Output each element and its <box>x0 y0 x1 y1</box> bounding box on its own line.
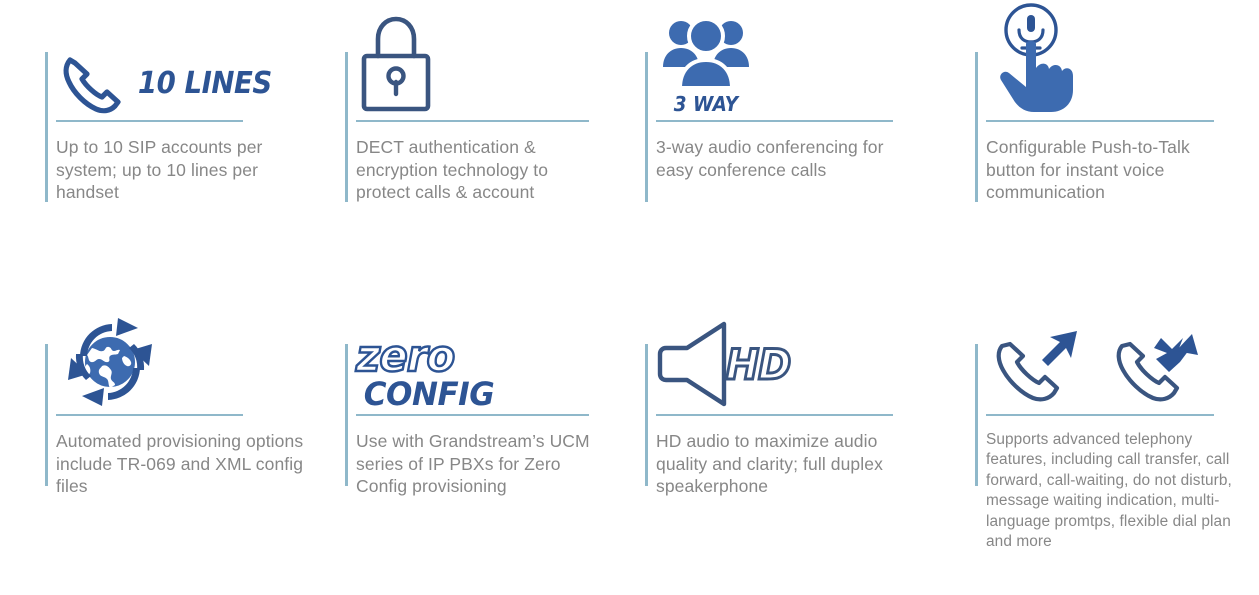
feature-description: Use with Grandstream’s UCM series of IP … <box>356 430 606 498</box>
feature-description: Automated provisioning options include T… <box>56 430 306 498</box>
accent-rail <box>45 344 48 486</box>
feature-card-push-to-talk: Configurable Push-to-Talk button for ins… <box>975 0 1259 298</box>
accent-rail <box>345 52 348 202</box>
hand-pressing-microphone-button-icon <box>986 2 1082 116</box>
feature-description: 3-way audio conferencing for easy confer… <box>656 136 906 181</box>
icon-area <box>986 8 1259 120</box>
card-divider <box>56 120 243 122</box>
feature-card-three-way-conference: 3 WAY 3-way audio conferencing for easy … <box>645 0 975 298</box>
card-divider <box>986 120 1214 122</box>
icon-area: 3 WAY <box>656 8 975 120</box>
icon-area <box>56 306 345 414</box>
feature-badge-label: 10 LINES <box>138 66 272 101</box>
phone-handset-10-lines-icon: 10 LINES <box>56 50 278 116</box>
icon-area: 10 LINES <box>56 8 345 120</box>
feature-card-zero-config: zero CONFIG Use with Grandstream’s UCM s… <box>345 298 645 595</box>
icon-area <box>356 8 645 120</box>
feature-card-dect-security: DECT authentication & encryption technol… <box>345 0 645 298</box>
zero-config-wordmark-icon: zero CONFIG <box>356 337 499 410</box>
three-people-group-icon: 3 WAY <box>656 14 756 116</box>
feature-grid: 10 LINES Up to 10 SIP accounts per syste… <box>0 0 1259 595</box>
feature-badge-label: 3 WAY <box>674 92 738 116</box>
zero-wordmark-line: zero <box>356 337 491 377</box>
accent-rail <box>645 52 648 202</box>
feature-card-ten-lines: 10 LINES Up to 10 SIP accounts per syste… <box>45 0 345 298</box>
padlock-icon <box>356 12 436 116</box>
globe-refresh-arrows-icon <box>56 314 164 410</box>
feature-card-auto-provisioning: Automated provisioning options include T… <box>45 298 345 595</box>
call-transfer-forward-handsets-icon <box>986 324 1206 410</box>
card-divider <box>356 120 589 122</box>
card-divider <box>656 414 893 416</box>
feature-description: Up to 10 SIP accounts per system; up to … <box>56 136 306 204</box>
config-wordmark-line: CONFIG <box>356 378 494 410</box>
card-divider <box>356 414 589 416</box>
accent-rail <box>345 344 348 486</box>
feature-description: HD audio to maximize audio quality and c… <box>656 430 906 498</box>
feature-badge-label: HD <box>726 340 791 389</box>
card-divider <box>56 414 243 416</box>
accent-rail <box>645 344 648 486</box>
icon-area: zero CONFIG <box>356 306 645 414</box>
feature-card-hd-audio: HD HD audio to maximize audio quality an… <box>645 298 975 595</box>
icon-area: HD <box>656 306 975 414</box>
speaker-hd-icon: HD <box>656 318 792 410</box>
feature-description: DECT authentication & encryption technol… <box>356 136 606 204</box>
feature-description: Configurable Push-to-Talk button for ins… <box>986 136 1236 204</box>
feature-card-telephony-features: Supports advanced telephony features, in… <box>975 298 1259 595</box>
card-divider <box>656 120 893 122</box>
icon-area <box>986 306 1259 414</box>
accent-rail <box>975 344 978 486</box>
accent-rail <box>45 52 48 202</box>
feature-description: Supports advanced telephony features, in… <box>986 430 1232 552</box>
accent-rail <box>975 52 978 202</box>
card-divider <box>986 414 1214 416</box>
